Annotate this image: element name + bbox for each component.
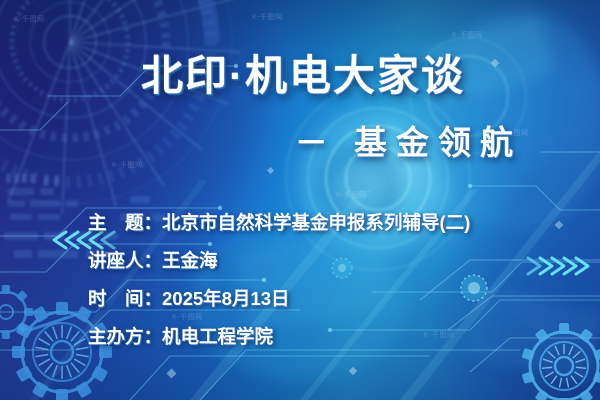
detail-label-topic: 主 题：: [88, 209, 162, 235]
event-details-list: 主 题： 北京市自然科学基金申报系列辅导(二) 讲座人： 王金海 时 间： 20…: [88, 203, 470, 355]
detail-value-speaker: 王金海: [162, 247, 218, 273]
detail-label-host: 主办方：: [88, 323, 162, 349]
list-item: 主办方： 机电工程学院: [88, 317, 470, 355]
poster-canvas: K-千图网 K-千图网 K-千图网 K-千图网 K-千图网 K-千图网 K-千图…: [0, 0, 600, 400]
list-item: 讲座人： 王金海: [88, 241, 470, 279]
detail-value-time: 2025年8月13日: [162, 285, 290, 311]
page-subtitle: － 基金领航: [295, 116, 522, 164]
detail-label-time: 时 间：: [88, 285, 162, 311]
detail-value-host: 机电工程学院: [162, 323, 273, 349]
list-item: 时 间： 2025年8月13日: [88, 279, 470, 317]
detail-label-speaker: 讲座人：: [88, 247, 162, 273]
list-item: 主 题： 北京市自然科学基金申报系列辅导(二): [88, 203, 470, 241]
page-title: 北印·机电大家谈: [0, 42, 600, 103]
detail-value-topic: 北京市自然科学基金申报系列辅导(二): [162, 209, 470, 235]
